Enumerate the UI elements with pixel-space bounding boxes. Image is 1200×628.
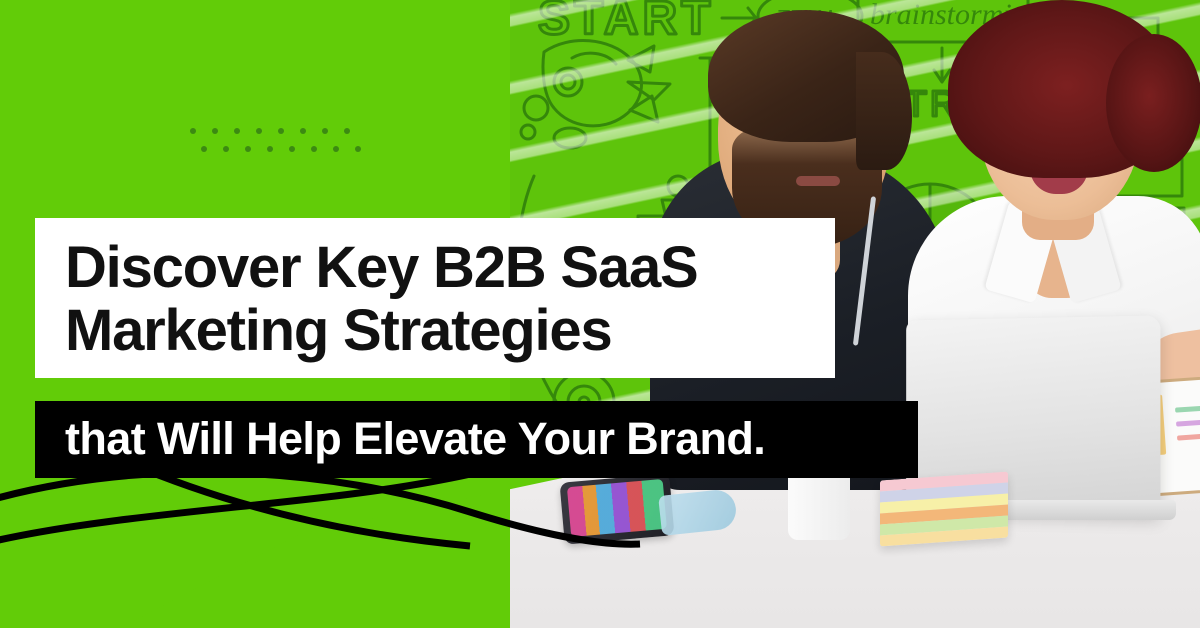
headline-line-2: Marketing Strategies xyxy=(65,299,805,362)
white-cup xyxy=(788,468,850,540)
headline-line-3: that Will Help Elevate Your Brand. xyxy=(65,415,890,462)
headline-primary-block: Discover Key B2B SaaS Marketing Strategi… xyxy=(35,218,835,378)
smartphone-screen xyxy=(567,479,667,537)
man-mouth xyxy=(796,176,840,186)
smartphone xyxy=(560,473,675,544)
sticky-note-stack xyxy=(880,472,1008,547)
headline-secondary-block: that Will Help Elevate Your Brand. xyxy=(35,401,918,478)
dot-grid-decoration xyxy=(190,128,350,156)
headline-line-1: Discover Key B2B SaaS xyxy=(65,236,805,299)
woman-hair-bun xyxy=(1106,34,1200,172)
marketing-banner: START TEAM xyxy=(0,0,1200,628)
